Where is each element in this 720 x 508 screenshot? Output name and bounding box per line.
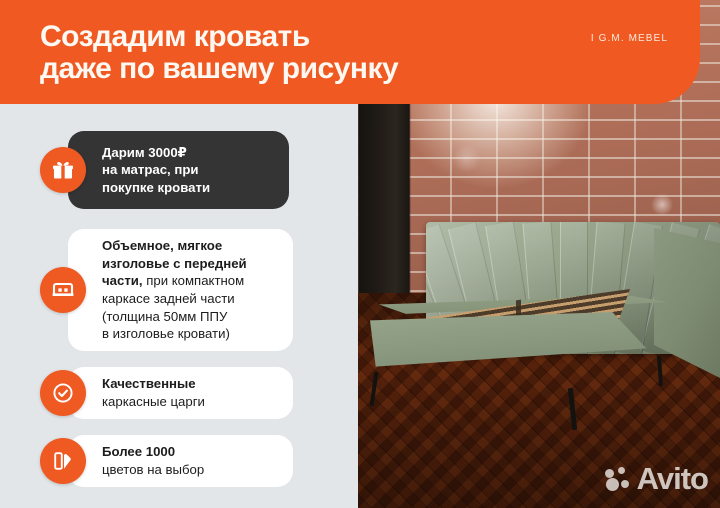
feature-card-text: Качественныекаркасные царги — [102, 375, 205, 410]
feature-card-text-rest: каркасные царги — [102, 394, 205, 409]
feature-card-text-bold: Качественные — [102, 376, 196, 391]
feature-card-body: Качественныекаркасные царги — [68, 364, 219, 421]
bed-frame-side-rail — [370, 312, 655, 382]
feature-card-headboard[interactable]: Объемное, мягкое изголовье с передней ча… — [68, 229, 293, 351]
gift-icon — [40, 147, 86, 193]
brand-logo-text: I G.M. MEBEL — [591, 33, 668, 44]
bed-frame — [370, 296, 668, 388]
feature-card-text: Более 1000цветов на выбор — [102, 443, 204, 478]
feature-card-list: Дарим 3000₽ на матрас, при покупке крова… — [0, 0, 358, 508]
promo-banner-page: Avito Создадим кровать даже по вашему ри… — [0, 0, 720, 508]
feature-card-text: Дарим 3000₽ на матрас, при покупке крова… — [102, 144, 210, 197]
feature-card-body: Объемное, мягкое изголовье с передней ча… — [68, 226, 261, 353]
bed-icon — [40, 267, 86, 313]
color-palette-icon — [40, 438, 86, 484]
avito-watermark: Avito — [605, 463, 708, 494]
feature-card-body: Дарим 3000₽ на матрас, при покупке крова… — [68, 133, 224, 208]
feature-card-quality[interactable]: Качественныекаркасные царги — [68, 367, 293, 419]
feature-card-text-bold: Более 1000 — [102, 444, 175, 459]
avito-dots-icon — [605, 467, 631, 491]
avito-wordmark: Avito — [637, 463, 708, 494]
check-circle-icon — [40, 370, 86, 416]
feature-card-text-rest: цветов на выбор — [102, 462, 204, 477]
feature-card-text: Объемное, мягкое изголовье с передней ча… — [102, 237, 247, 342]
feature-card-colors[interactable]: Более 1000цветов на выбор — [68, 435, 293, 487]
feature-card-gift[interactable]: Дарим 3000₽ на матрас, при покупке крова… — [68, 131, 289, 209]
feature-card-body: Более 1000цветов на выбор — [68, 432, 218, 489]
